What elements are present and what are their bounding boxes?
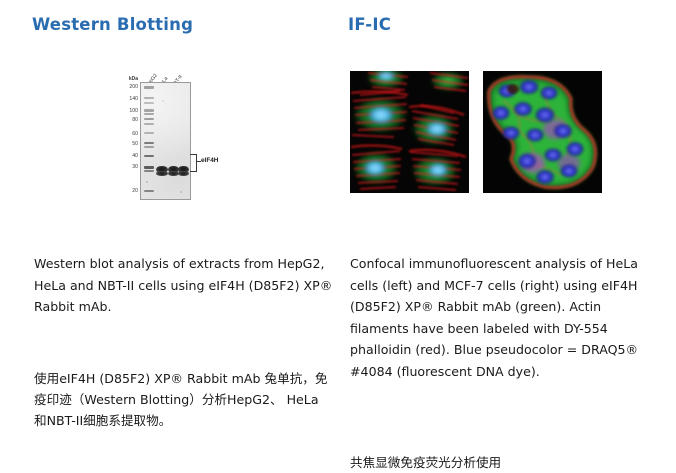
if-image-hela [350,71,469,193]
mw-marker-20: 20 [132,188,138,194]
mw-marker-140: 140 [129,96,138,102]
mw-marker-60: 60 [132,131,138,137]
mw-marker-30: 30 [132,164,138,170]
molecular-weight-axis: kDa 200 140 100 80 60 50 40 30 20 [108,74,138,202]
mw-marker-200: 200 [129,84,138,90]
western-blotting-panel: Western Blotting kDa 200 140 100 80 60 5… [32,0,344,464]
if-image-mcf7 [483,71,602,193]
target-bracket [190,154,197,172]
western-blot-figure: kDa 200 140 100 80 60 50 40 30 20 HepG2 … [32,62,344,204]
if-ic-heading: IF-IC [348,0,660,36]
western-blotting-heading: Western Blotting [32,0,344,36]
band-hepg2-lower [156,171,168,176]
mw-marker-100: 100 [129,108,138,114]
if-ic-caption-chinese-partial: 共焦显微免疫荧光分析使用 [350,452,650,473]
if-ic-caption-english: Confocal immunofluorescent analysis of H… [350,253,650,382]
mw-marker-80: 80 [132,117,138,123]
immunofluorescence-figure [348,62,660,204]
band-nbt2-lower [178,171,189,176]
if-image-mcf7-graphic [483,71,602,193]
target-protein-label: eIF4H [201,157,218,164]
if-image-hela-graphic [350,71,469,193]
blot-wrapper: kDa 200 140 100 80 60 50 40 30 20 HepG2 … [108,74,268,202]
blot-membrane [140,82,191,200]
figure-page: Western Blotting kDa 200 140 100 80 60 5… [0,0,676,464]
western-caption-english: Western blot analysis of extracts from H… [34,253,334,318]
if-ic-panel: IF-IC [348,0,660,464]
mw-axis-title: kDa [129,76,138,82]
if-image-row [350,71,602,193]
mw-marker-40: 40 [132,153,138,159]
western-caption-chinese: 使用eIF4H (D85F2) XP® Rabbit mAb 兔单抗，免疫印迹（… [34,368,334,431]
mw-marker-50: 50 [132,141,138,147]
